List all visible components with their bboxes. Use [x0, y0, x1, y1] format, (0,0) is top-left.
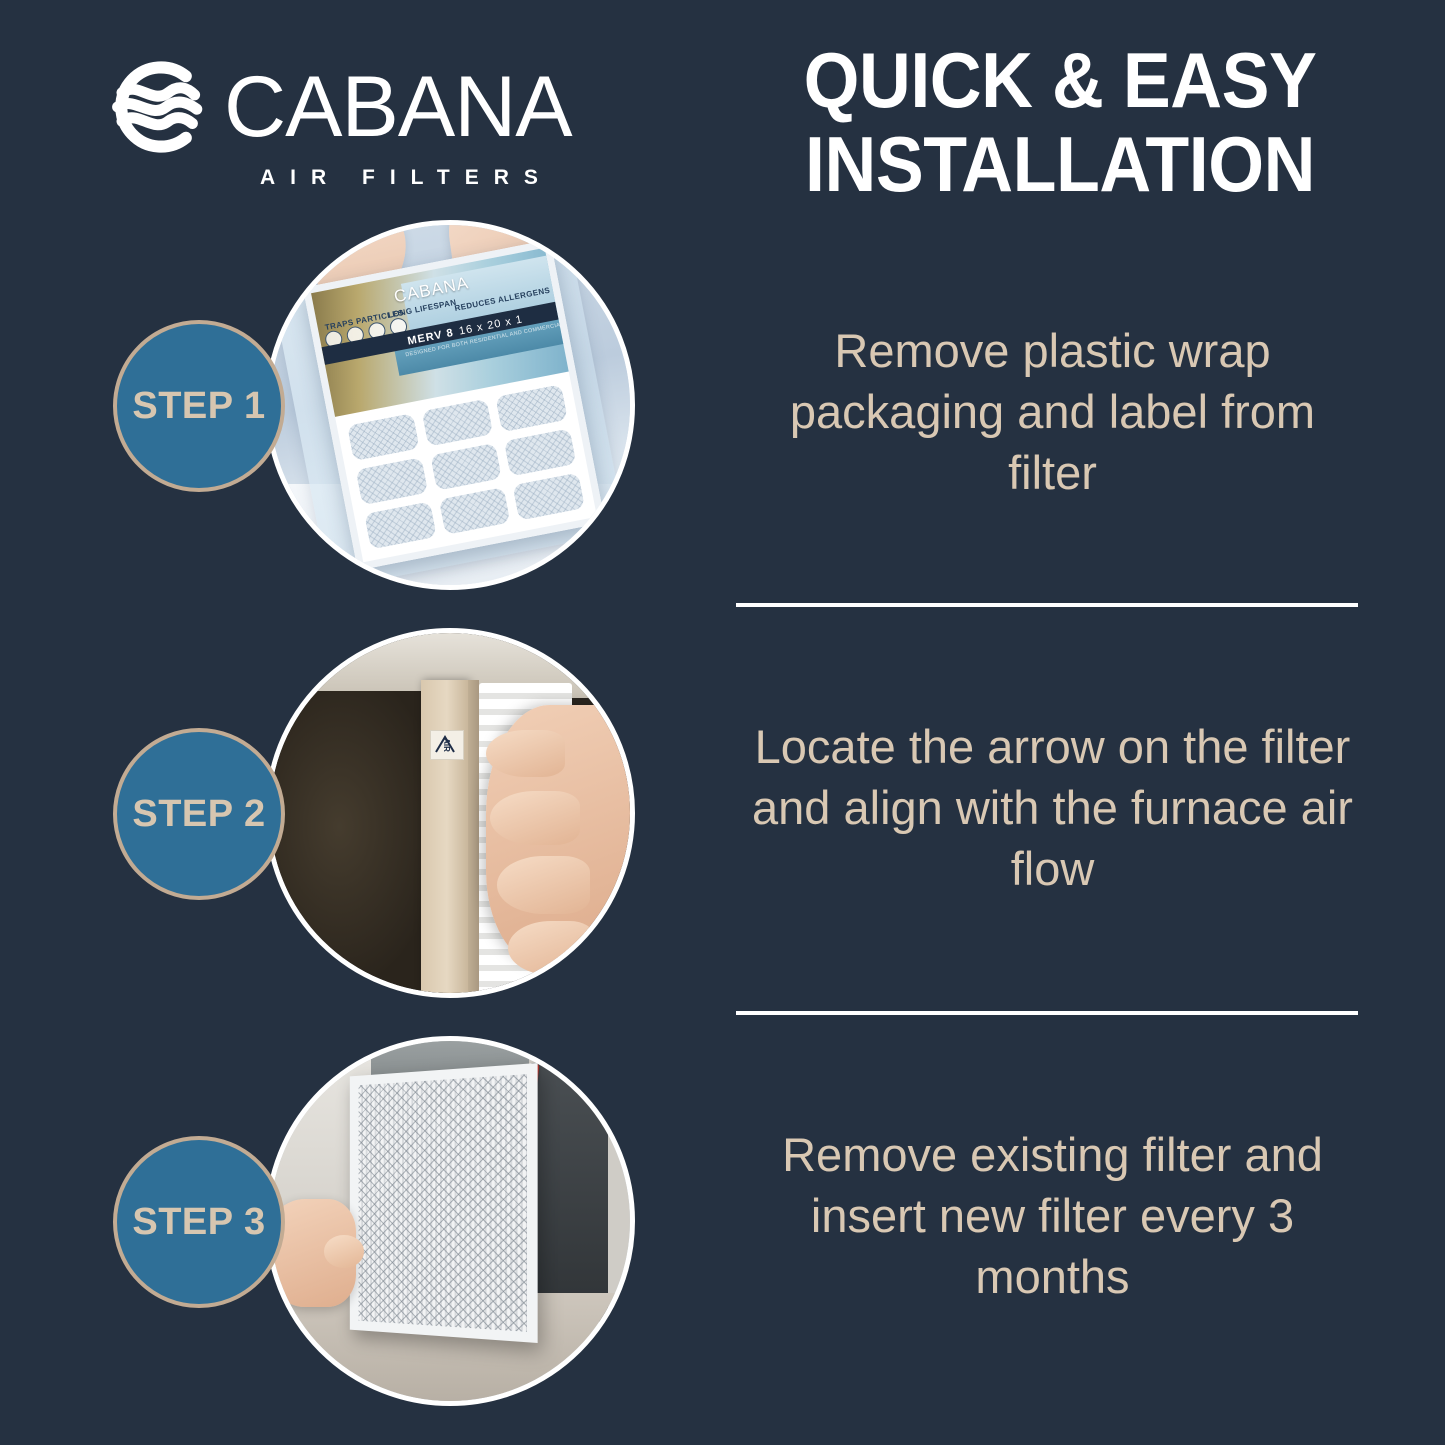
filter-frame-edge: [468, 680, 479, 993]
step-3-badge-label: STEP 3: [132, 1201, 265, 1244]
brand-row: CABANA: [100, 52, 572, 162]
step-2-badge: STEP 2: [113, 728, 285, 900]
step-3-photo: [265, 1036, 635, 1406]
step-2-photo-inner: AIR: [270, 633, 630, 993]
furnace-unit: [529, 1063, 608, 1322]
section-divider-1: [736, 603, 1358, 607]
step-1-photo: CABANA TRAPS PARTICLES LONG LIFESPAN RED…: [265, 220, 635, 590]
cabana-wave-circle-icon: [100, 52, 210, 162]
pleat-cell: [495, 384, 568, 432]
step-3-photo-inner: [270, 1041, 630, 1401]
pleat-cell: [438, 487, 511, 535]
air-filter-product: CABANA TRAPS PARTICLES LONG LIFESPAN RED…: [302, 240, 604, 571]
step-3-badge: STEP 3: [113, 1136, 285, 1308]
brand-tagline: AIR FILTERS: [260, 166, 553, 190]
step-1-badge: STEP 1: [113, 320, 285, 492]
svg-text:AIR: AIR: [442, 738, 451, 752]
finger: [486, 730, 565, 777]
step-row-1: CABANA TRAPS PARTICLES LONG LIFESPAN RED…: [0, 205, 1445, 605]
step-1-badge-label: STEP 1: [132, 385, 265, 428]
pleat-cell: [421, 399, 494, 447]
pleat-cell: [363, 501, 436, 549]
step-3-description: Remove existing filter and insert new fi…: [745, 1124, 1360, 1307]
brand-logo: CABANA AIR FILTERS: [100, 52, 680, 190]
pleat-cell: [355, 457, 428, 505]
step-1-description: Remove plastic wrap packaging and label …: [745, 320, 1360, 503]
step-1-photo-inner: CABANA TRAPS PARTICLES LONG LIFESPAN RED…: [270, 225, 630, 585]
air-flow-arrow-icon: AIR: [430, 730, 464, 760]
thumb: [324, 1235, 364, 1267]
step-row-3: STEP 3 Remove existing filter and insert…: [0, 1021, 1445, 1421]
step-2-description: Locate the arrow on the filter and align…: [745, 716, 1360, 899]
pleat-cell: [429, 443, 502, 491]
pleat-cell: [512, 472, 585, 520]
finger: [508, 921, 594, 975]
infographic-page: CABANA AIR FILTERS QUICK & EASY INSTALLA…: [0, 0, 1445, 1445]
section-divider-2: [736, 1011, 1358, 1015]
brand-name: CABANA: [224, 64, 572, 150]
finger: [490, 791, 580, 845]
step-2-badge-label: STEP 2: [132, 793, 265, 836]
finger: [497, 856, 591, 914]
step-2-photo: AIR: [265, 628, 635, 998]
air-filter-panel: [350, 1063, 538, 1344]
step-row-2: AIR STEP 2 Locate the arrow on the filte…: [0, 613, 1445, 1013]
filter-mesh: [359, 1074, 528, 1332]
pleat-cell: [504, 428, 577, 476]
page-title: QUICK & EASY INSTALLATION: [784, 38, 1336, 206]
photo-dark-cavity: [270, 691, 443, 993]
filter-cardboard-frame: [421, 680, 468, 993]
filter-pleat-grid: [346, 384, 585, 549]
pleat-cell: [346, 413, 419, 461]
